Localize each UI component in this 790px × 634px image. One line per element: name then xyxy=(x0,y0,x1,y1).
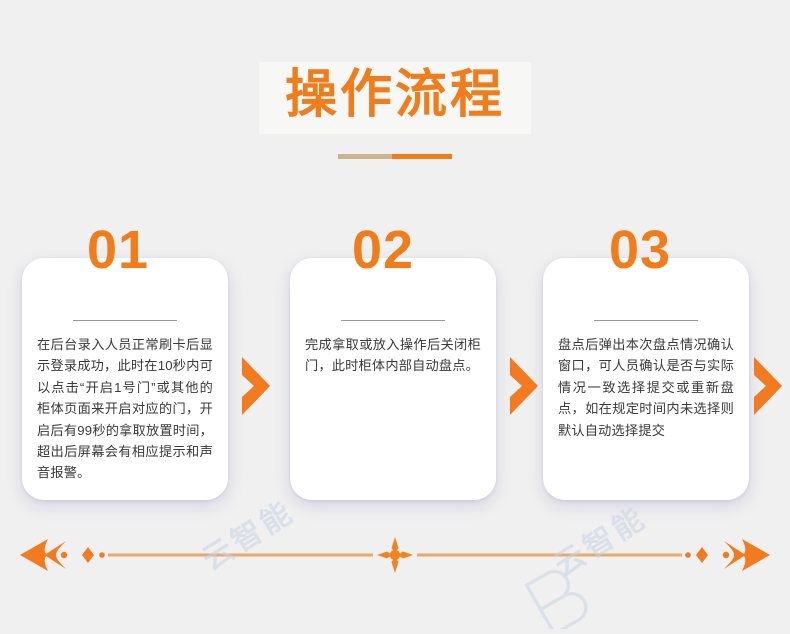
title-underline-right-segment xyxy=(392,154,452,159)
step-number: 03 xyxy=(537,223,743,277)
step-description: 在后台录入人员正常刷卡后显示登录成功，此时在10秒内可以点击“开启1号门”或其他… xyxy=(37,334,213,484)
step-number: 01 xyxy=(15,223,221,277)
chevron-right-icon xyxy=(240,355,276,417)
chevron-right-icon xyxy=(752,355,788,417)
decorative-divider xyxy=(0,533,790,577)
step-number: 02 xyxy=(280,223,486,277)
steps-row: 云智能 云智能 01 在后台录入人员正常刷卡后显示登录成功，此时在10秒内可以点… xyxy=(0,225,790,515)
step-card-03[interactable]: 03 盘点后弹出本次盘点情况确认窗口，可人员确认是否与实际情况一致选择提交或重新… xyxy=(543,258,749,500)
step-divider xyxy=(594,320,698,321)
chevron-right-icon xyxy=(508,355,544,417)
step-card-02[interactable]: 02 完成拿取或放入操作后关闭柜门，此时柜体内部自动盘点。 xyxy=(290,258,496,500)
step-description: 盘点后弹出本次盘点情况确认窗口，可人员确认是否与实际情况一致选择提交或重新盘点，… xyxy=(558,334,734,441)
step-card-01[interactable]: 01 在后台录入人员正常刷卡后显示登录成功，此时在10秒内可以点击“开启1号门”… xyxy=(22,258,228,500)
page-title: 操作流程 xyxy=(285,66,505,126)
step-description: 完成拿取或放入操作后关闭柜门，此时柜体内部自动盘点。 xyxy=(305,334,481,377)
page-title-block: 操作流程 xyxy=(0,62,790,159)
step-divider xyxy=(73,320,177,321)
title-underline xyxy=(338,154,452,159)
title-plate: 操作流程 xyxy=(259,62,531,134)
title-underline-left-segment xyxy=(338,154,392,159)
step-divider xyxy=(341,320,445,321)
